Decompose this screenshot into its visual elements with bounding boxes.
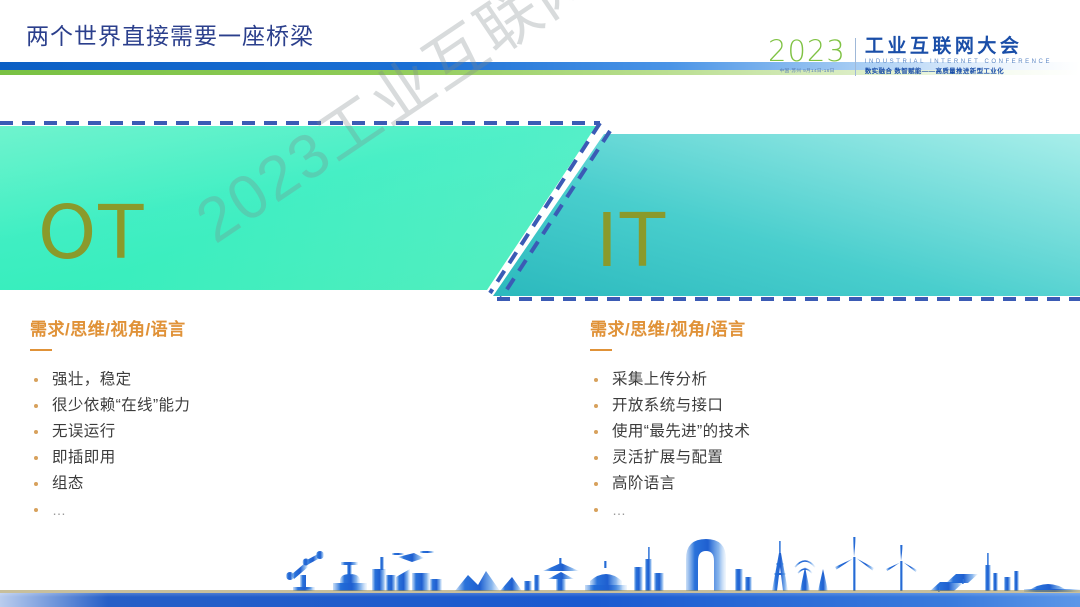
logo-year-subtitle: 中国·苏州 9月14日-16日 bbox=[779, 67, 834, 75]
list-item: 即插即用 bbox=[30, 445, 500, 471]
logo-tagline: 数实融合 数智赋能——高质量推进新型工业化 bbox=[865, 67, 1052, 77]
water-highlight bbox=[0, 593, 1080, 597]
list-item: 很少依赖“在线”能力 bbox=[30, 393, 500, 419]
it-column-heading: 需求/思维/视角/语言 bbox=[590, 318, 1060, 342]
ot-band-overlay bbox=[0, 126, 596, 290]
logo-title-en: INDUSTRIAL INTERNET CONFERENCE bbox=[865, 58, 1052, 67]
it-bullet-list: 采集上传分析 开放系统与接口 使用“最先进”的技术 灵活扩展与配置 高阶语言 … bbox=[590, 367, 1060, 523]
conference-logo: 2023 中国·苏州 9月14日-16日 工业互联网大会 INDUSTRIAL … bbox=[768, 36, 1052, 82]
logo-year: 2023 bbox=[768, 36, 846, 67]
list-item: 使用“最先进”的技术 bbox=[590, 419, 1060, 445]
list-item: 灵活扩展与配置 bbox=[590, 445, 1060, 471]
ot-column-heading: 需求/思维/视角/语言 bbox=[30, 318, 500, 342]
footer-skyline bbox=[0, 517, 1080, 607]
ot-it-banner-group bbox=[0, 110, 1080, 310]
ot-heading-underline bbox=[30, 349, 52, 351]
list-item: 强壮，稳定 bbox=[30, 367, 500, 393]
slide-canvas: 两个世界直接需要一座桥梁 2023 中国·苏州 9月14日-16日 工业互联网大… bbox=[0, 0, 1080, 607]
logo-year-block: 2023 中国·苏州 9月14日-16日 bbox=[768, 36, 855, 75]
ot-content-column: 需求/思维/视角/语言 强壮，稳定 很少依赖“在线”能力 无误运行 即插即用 组… bbox=[30, 318, 500, 523]
it-content-column: 需求/思维/视角/语言 采集上传分析 开放系统与接口 使用“最先进”的技术 灵活… bbox=[590, 318, 1060, 523]
it-heading-underline bbox=[590, 349, 612, 351]
list-item: 组态 bbox=[30, 471, 500, 497]
list-item: 开放系统与接口 bbox=[590, 393, 1060, 419]
list-item: 采集上传分析 bbox=[590, 367, 1060, 393]
page-title: 两个世界直接需要一座桥梁 bbox=[26, 17, 314, 51]
skyline-silhouette-icon bbox=[0, 517, 1080, 607]
list-item: 无误运行 bbox=[30, 419, 500, 445]
banner-shapes-svg bbox=[0, 110, 1080, 310]
logo-title-cn: 工业互联网大会 bbox=[865, 36, 1052, 58]
ot-bullet-list: 强壮，稳定 很少依赖“在线”能力 无误运行 即插即用 组态 … bbox=[30, 367, 500, 523]
it-band-shape bbox=[493, 134, 1080, 296]
ground-line bbox=[0, 590, 1080, 593]
list-item: 高阶语言 bbox=[590, 471, 1060, 497]
logo-text-block: 工业互联网大会 INDUSTRIAL INTERNET CONFERENCE 数… bbox=[856, 36, 1052, 77]
